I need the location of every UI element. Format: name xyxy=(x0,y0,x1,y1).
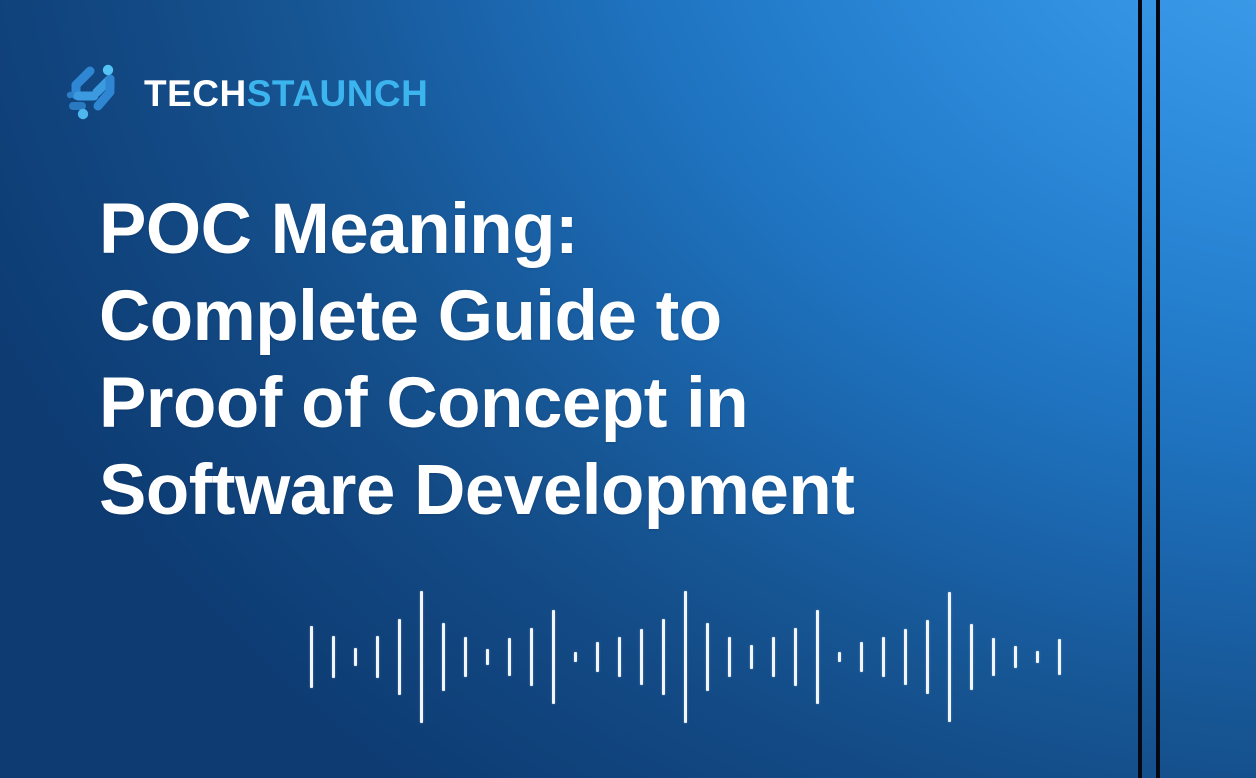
vertical-divider-line-2 xyxy=(1156,0,1160,778)
waveform-bar xyxy=(860,642,863,672)
waveform-bar xyxy=(354,648,357,666)
waveform-bar xyxy=(332,636,335,678)
waveform-bar xyxy=(464,637,467,677)
waveform-bar xyxy=(310,626,313,688)
waveform-bar xyxy=(420,591,423,723)
waveform-bar xyxy=(882,637,885,677)
headline-line-3: Proof of Concept in xyxy=(99,360,979,447)
headline-line-1: POC Meaning: xyxy=(99,186,979,273)
waveform-bar xyxy=(442,623,445,691)
waveform-bar xyxy=(728,637,731,677)
brand-wordmark: TECHSTAUNCH xyxy=(144,75,428,112)
waveform-bar xyxy=(552,610,555,704)
waveform-bar xyxy=(1058,639,1061,675)
waveform-bar xyxy=(486,649,489,665)
waveform-bar xyxy=(1014,646,1017,668)
waveform-bar xyxy=(926,620,929,694)
headline-line-2: Complete Guide to xyxy=(99,273,979,360)
waveform-bar xyxy=(1036,651,1039,663)
vertical-divider-line-1 xyxy=(1138,0,1142,778)
waveform-bar xyxy=(706,623,709,691)
waveform-bar xyxy=(618,637,621,677)
waveform-bar xyxy=(596,642,599,672)
techstaunch-logo-icon xyxy=(64,62,126,124)
headline-line-4: Software Development xyxy=(99,447,979,534)
waveform-bar xyxy=(530,628,533,686)
audio-waveform-graphic xyxy=(310,586,1126,728)
waveform-bar xyxy=(376,636,379,678)
waveform-bar xyxy=(794,628,797,686)
waveform-bar xyxy=(684,591,687,723)
waveform-bar xyxy=(398,619,401,695)
waveform-bar xyxy=(838,652,841,662)
page-title: POC Meaning: Complete Guide to Proof of … xyxy=(99,186,979,534)
waveform-bar xyxy=(992,638,995,676)
brand-logo[interactable]: TECHSTAUNCH xyxy=(64,56,428,130)
wordmark-tech: TECH xyxy=(144,75,247,112)
waveform-bar xyxy=(904,629,907,685)
waveform-bar xyxy=(772,637,775,677)
wordmark-staunch: STAUNCH xyxy=(247,75,429,112)
waveform-bar xyxy=(750,645,753,669)
waveform-bar xyxy=(970,624,973,690)
waveform-bar xyxy=(948,592,951,722)
waveform-bar xyxy=(640,629,643,685)
waveform-bar xyxy=(816,610,819,704)
waveform-bar xyxy=(508,638,511,676)
waveform-bar xyxy=(662,619,665,695)
waveform-bar xyxy=(574,652,577,662)
blog-cover-poster: TECHSTAUNCH POC Meaning: Complete Guide … xyxy=(0,0,1256,778)
